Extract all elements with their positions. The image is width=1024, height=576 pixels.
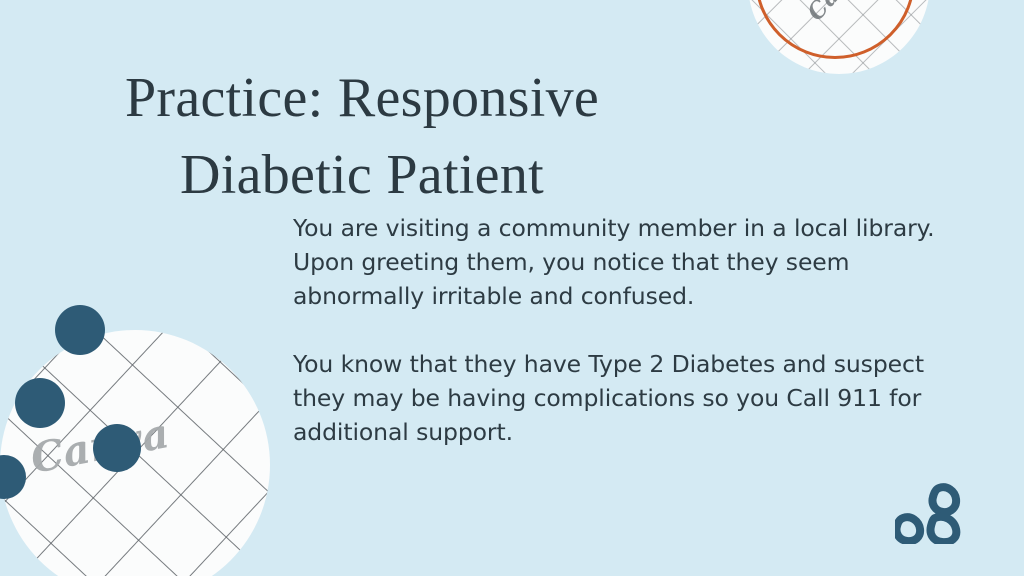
body-paragraph-2: You know that they have Type 2 Diabetes …: [293, 347, 958, 449]
teardrop-cluster-icon: [895, 482, 970, 544]
decorative-dot: [93, 424, 141, 472]
body-text-block: You are visiting a community member in a…: [293, 211, 958, 449]
slide-canvas: Canva Canva Practice: Responsive Diabeti…: [0, 0, 1024, 576]
page-title: Practice: Responsive Diabetic Patient: [72, 60, 652, 214]
decorative-dot: [55, 305, 105, 355]
body-paragraph-1: You are visiting a community member in a…: [293, 211, 958, 313]
page-title-line-1: Practice: Responsive: [72, 60, 652, 137]
decorative-dot: [15, 378, 65, 428]
page-title-line-2: Diabetic Patient: [72, 137, 652, 214]
bottom-right-teardrop-cluster: [895, 482, 970, 544]
top-right-circle-photo: Canva: [748, 0, 930, 74]
